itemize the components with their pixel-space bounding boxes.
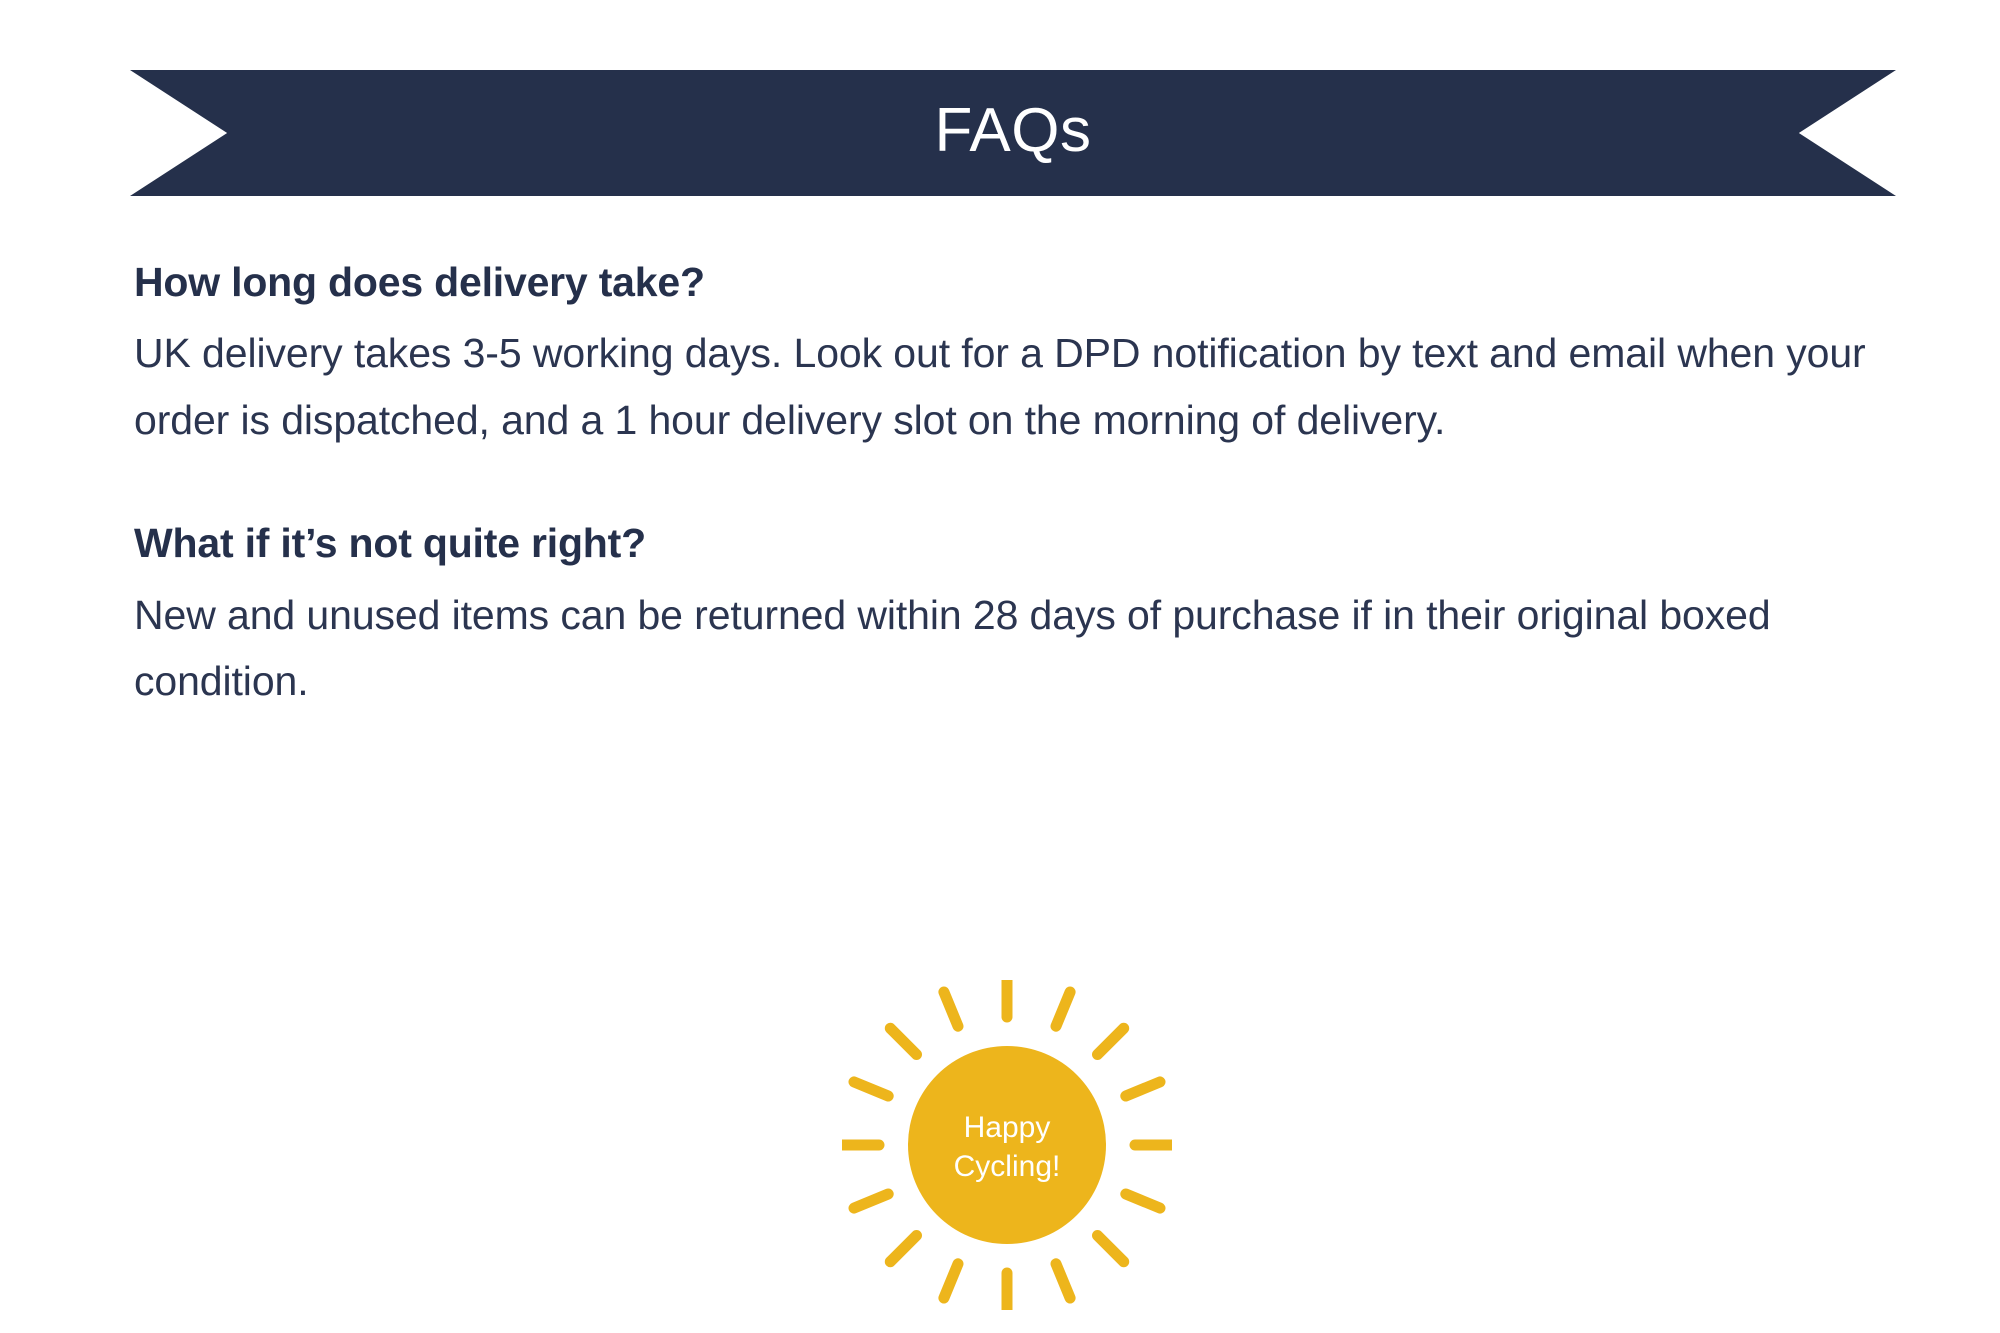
page-title: FAQs: [934, 100, 1091, 166]
sun-disc: [908, 1046, 1106, 1244]
faq-question: How long does delivery take?: [134, 258, 1894, 306]
faq-item: What if it’s not quite right? New and un…: [134, 519, 1894, 714]
faq-banner: FAQs: [130, 70, 1896, 196]
banner-ribbon-shape: FAQs: [130, 70, 1896, 196]
sun-badge-line-1: Happy: [964, 1111, 1051, 1144]
sun-graphic: Happy Cycling!: [842, 980, 1172, 1310]
faq-item: How long does delivery take? UK delivery…: [134, 258, 1894, 453]
faq-question: What if it’s not quite right?: [134, 519, 1894, 567]
sun-badge-line-2: Cycling!: [954, 1150, 1061, 1183]
faq-page: FAQs How long does delivery take? UK del…: [0, 0, 2000, 1333]
faq-list: How long does delivery take? UK delivery…: [134, 258, 1894, 714]
sun-icon: Happy Cycling!: [842, 980, 1172, 1310]
faq-answer: UK delivery takes 3-5 working days. Look…: [134, 320, 1889, 453]
faq-answer: New and unused items can be returned wit…: [134, 582, 1889, 715]
